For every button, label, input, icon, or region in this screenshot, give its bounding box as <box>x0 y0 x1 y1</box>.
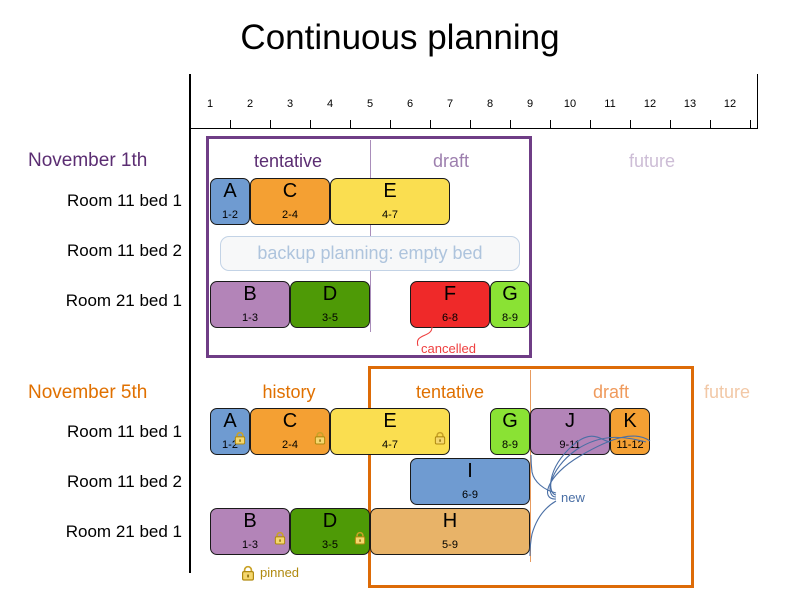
axis-tick-5-4 <box>390 120 391 129</box>
axis-tick-12-11 <box>670 120 671 129</box>
group2-phase-future: future <box>696 382 758 403</box>
group1-phase-draft: draft <box>372 151 530 172</box>
diagram-canvas: Continuous planning 1234567891011121312 … <box>0 0 800 600</box>
axis-tick-label-3: 4 <box>315 98 345 110</box>
task-span: 6-8 <box>411 312 489 324</box>
task-bar-k-g2[interactable]: K11-12 <box>610 408 650 455</box>
axis-tick-9-8 <box>550 120 551 129</box>
task-bar-i-g2[interactable]: I6-9 <box>410 458 530 505</box>
task-span: 6-9 <box>411 489 529 501</box>
task-span: 8-9 <box>491 312 529 324</box>
lock-icon <box>354 531 366 545</box>
task-bar-b-g1[interactable]: B1-3 <box>210 281 290 328</box>
axis-right-cap <box>757 74 758 129</box>
page-title: Continuous planning <box>0 18 800 58</box>
task-name: I <box>411 460 529 482</box>
bed-label-g1-r0: Room 11 bed 1 <box>40 191 182 211</box>
axis-tick-7-6 <box>470 120 471 129</box>
axis-tick-label-5: 6 <box>395 98 425 110</box>
group2-phase-divider <box>530 370 531 562</box>
annotation-cancelled: cancelled <box>421 341 476 356</box>
task-name: E <box>331 180 449 202</box>
axis-tick-label-9: 10 <box>555 98 585 110</box>
axis-tick-label-12: 13 <box>675 98 705 110</box>
task-bar-a-g2[interactable]: A1-2 <box>210 408 250 455</box>
task-name: G <box>491 410 529 432</box>
task-bar-e-g2[interactable]: E4-7 <box>330 408 450 455</box>
task-span: 8-9 <box>491 439 529 451</box>
task-bar-c-g1[interactable]: C2-4 <box>250 178 330 225</box>
task-name: C <box>251 180 329 202</box>
task-bar-f-g1[interactable]: F6-8 <box>410 281 490 328</box>
group1-phase-tentative: tentative <box>208 151 368 172</box>
task-name: A <box>211 410 249 432</box>
axis-tick-label-0: 1 <box>195 98 225 110</box>
task-name: C <box>251 410 329 432</box>
task-name: A <box>211 180 249 202</box>
task-name: D <box>291 510 369 532</box>
task-bar-g-g1[interactable]: G8-9 <box>490 281 530 328</box>
bed-label-g1-r1: Room 11 bed 2 <box>40 241 182 261</box>
task-bar-c-g2[interactable]: C2-4 <box>250 408 330 455</box>
group-label-november-1th: November 1th <box>28 150 147 172</box>
task-bar-a-g1[interactable]: A1-2 <box>210 178 250 225</box>
task-name: G <box>491 283 529 305</box>
task-name: E <box>331 410 449 432</box>
lock-icon <box>234 431 246 445</box>
lock-icon <box>434 431 446 445</box>
task-name: K <box>611 410 649 432</box>
task-bar-e-g1[interactable]: E4-7 <box>330 178 450 225</box>
axis-tick-12-13 <box>750 120 751 129</box>
task-span: 11-12 <box>611 439 649 451</box>
group2-phase-tentative: tentative <box>372 382 528 403</box>
lock-icon <box>274 531 286 545</box>
task-name: B <box>211 283 289 305</box>
task-span: 5-9 <box>371 539 529 551</box>
axis-tick-label-6: 7 <box>435 98 465 110</box>
task-bar-j-g2[interactable]: J9-11 <box>530 408 610 455</box>
task-bar-d-g1[interactable]: D3-5 <box>290 281 370 328</box>
group2-phase-draft: draft <box>532 382 690 403</box>
axis-tick-3-2 <box>310 120 311 129</box>
lock-icon <box>314 431 326 445</box>
axis-tick-label-13: 12 <box>715 98 745 110</box>
axis-tick-1-0 <box>230 120 231 129</box>
annotation-new: new <box>561 490 585 505</box>
axis-tick-label-10: 11 <box>595 98 625 110</box>
axis-tick-2-1 <box>270 120 271 129</box>
task-span: 3-5 <box>291 312 369 324</box>
group2-phase-history: history <box>212 382 366 403</box>
axis-tick-label-11: 12 <box>635 98 665 110</box>
task-span: 4-7 <box>331 209 449 221</box>
axis-tick-10-9 <box>590 120 591 129</box>
task-span: 1-2 <box>211 209 249 221</box>
axis-tick-4-3 <box>350 120 351 129</box>
task-span: 4-7 <box>331 439 449 451</box>
axis-tick-label-2: 3 <box>275 98 305 110</box>
task-name: J <box>531 410 609 432</box>
vertical-axis-line <box>189 74 191 573</box>
task-bar-g-g2[interactable]: G8-9 <box>490 408 530 455</box>
task-bar-d-g2[interactable]: D3-5 <box>290 508 370 555</box>
axis-tick-label-1: 2 <box>235 98 265 110</box>
axis-tick-6-5 <box>430 120 431 129</box>
group1-backup-planning-bar: backup planning: empty bed <box>220 236 520 271</box>
axis-tick-label-8: 9 <box>515 98 545 110</box>
axis-tick-13-12 <box>710 120 711 129</box>
task-bar-h-g2[interactable]: H5-9 <box>370 508 530 555</box>
bed-label-g2-r0: Room 11 bed 1 <box>40 422 182 442</box>
bed-label-g1-r2: Room 21 bed 1 <box>40 291 182 311</box>
task-name: H <box>371 510 529 532</box>
group1-phase-future: future <box>552 151 752 172</box>
legend-lock-icon <box>241 565 255 581</box>
axis-tick-8-7 <box>510 120 511 129</box>
task-name: F <box>411 283 489 305</box>
axis-tick-11-10 <box>630 120 631 129</box>
bed-label-g2-r1: Room 11 bed 2 <box>40 472 182 492</box>
axis-tick-label-4: 5 <box>355 98 385 110</box>
task-span: 1-3 <box>211 312 289 324</box>
bed-label-g2-r2: Room 21 bed 1 <box>40 522 182 542</box>
task-span: 9-11 <box>531 439 609 451</box>
task-name: D <box>291 283 369 305</box>
task-span: 2-4 <box>251 209 329 221</box>
group-label-november-5th: November 5th <box>28 382 147 404</box>
task-name: B <box>211 510 289 532</box>
horizontal-axis-line <box>189 128 758 129</box>
task-bar-b-g2[interactable]: B1-3 <box>210 508 290 555</box>
axis-tick-label-7: 8 <box>475 98 505 110</box>
group1-backup-planning-label: backup planning: empty bed <box>221 237 519 270</box>
legend-pinned-label: pinned <box>260 565 299 580</box>
